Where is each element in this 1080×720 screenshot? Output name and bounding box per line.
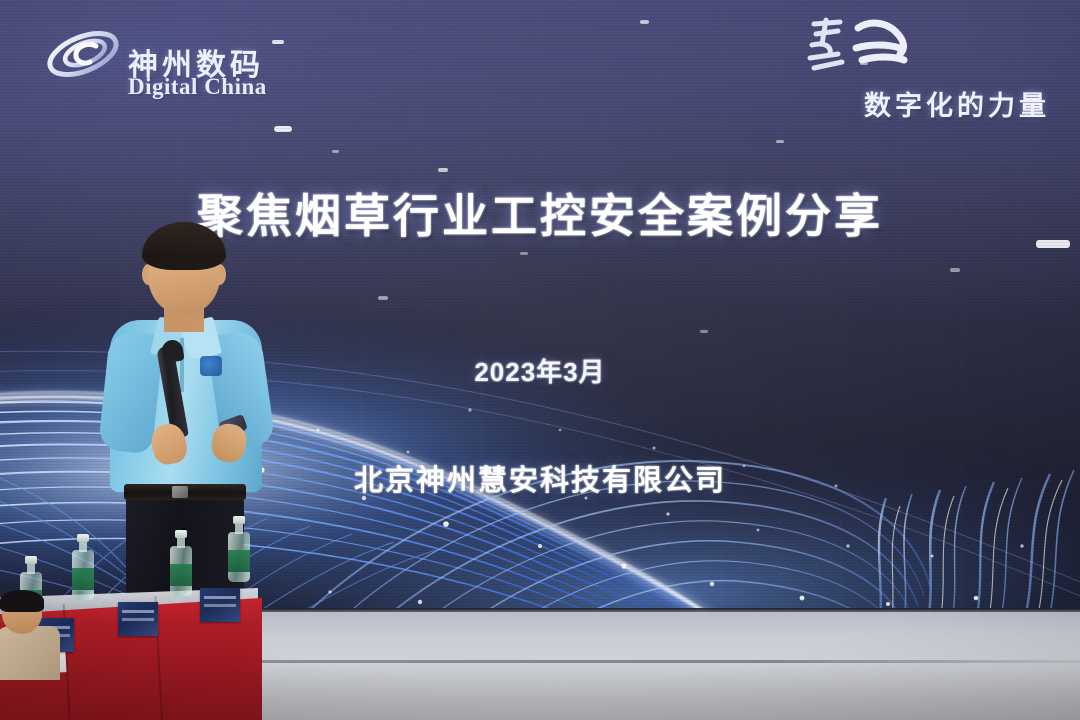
seated-audience-member <box>0 594 68 678</box>
chest-logo-icon <box>200 356 222 376</box>
photo-stage: 神州数码 Digital China <box>0 0 1080 720</box>
seated-person-hair <box>0 590 44 612</box>
name-card <box>118 602 158 636</box>
bottle-cap <box>77 534 89 542</box>
water-bottle <box>228 516 250 582</box>
speaker-belt-buckle <box>172 486 188 498</box>
bottle-label <box>170 564 192 586</box>
water-bottle <box>72 534 94 600</box>
seated-person-body <box>0 626 60 680</box>
name-card <box>200 588 240 622</box>
event-tagline: 数字化的力量 <box>864 84 1050 123</box>
bottle-cap <box>25 556 37 564</box>
water-bottle <box>170 530 192 596</box>
speaker-hair <box>142 222 226 270</box>
digital-china-logo: 神州数码 Digital China <box>44 18 344 96</box>
brand-name-en: Digital China <box>128 74 267 100</box>
bottle-label <box>228 550 250 572</box>
calligraphy-juhe-icon <box>800 14 930 82</box>
bottle-label <box>72 568 94 590</box>
galaxy-swirl-icon <box>44 24 122 84</box>
bottle-cap <box>233 516 245 524</box>
event-logo: 数字化的力量 <box>798 14 1058 116</box>
bottle-cap <box>175 530 187 538</box>
